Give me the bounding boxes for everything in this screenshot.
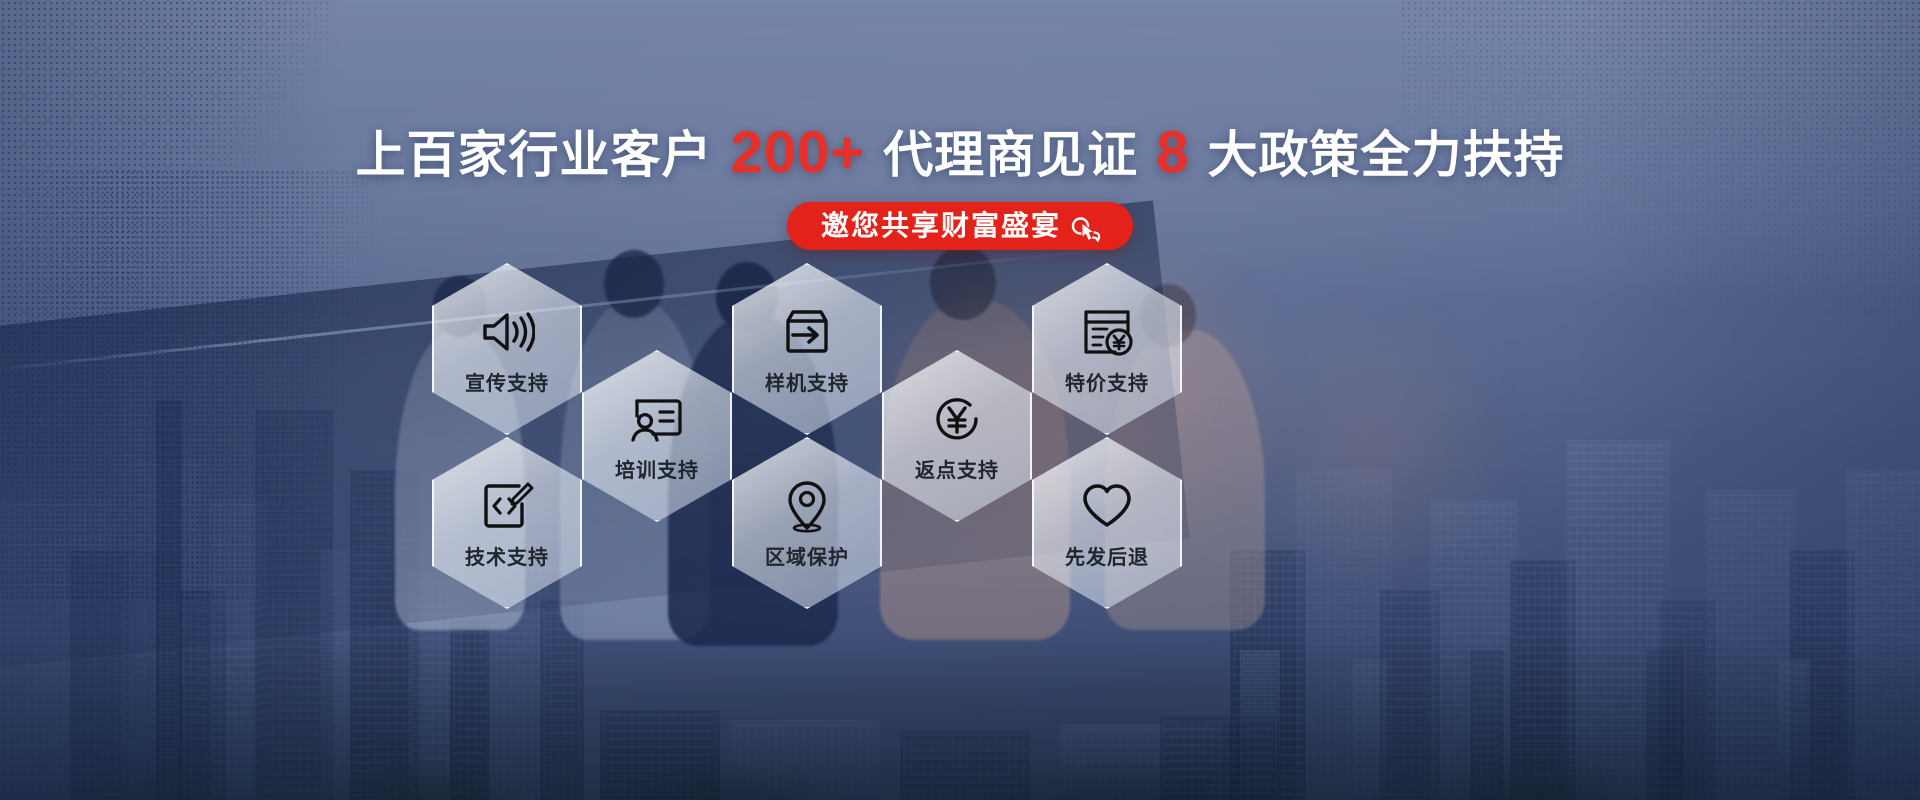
hex-label-special-price: 特价支持 <box>1065 374 1149 394</box>
box-arrow-in-icon <box>779 304 835 360</box>
yen-circle-icon <box>929 391 985 447</box>
hex-label-promo-support: 宣传支持 <box>465 374 549 394</box>
code-brackets-icon <box>479 478 535 534</box>
hex-cell-special-price[interactable]: 特价支持 <box>1032 263 1182 435</box>
heart-icon <box>1079 478 1135 534</box>
hex-label-training-support: 培训支持 <box>615 461 699 481</box>
price-document-yen-icon <box>1079 304 1135 360</box>
hex-cell-promo-support[interactable]: 宣传支持 <box>432 263 582 435</box>
hex-label-sample-support: 样机支持 <box>765 374 849 394</box>
megaphone-speaker-icon <box>479 304 535 360</box>
benefits-hexagon-grid: 宣传支持 技术支持 培训支持 样机支持 区域保护 返点支持 <box>0 0 1920 800</box>
hex-label-technical-support: 技术支持 <box>465 548 549 568</box>
location-pin-icon <box>779 478 835 534</box>
hex-cell-ship-first-refund[interactable]: 先发后退 <box>1032 437 1182 609</box>
hex-cell-region-protection[interactable]: 区域保护 <box>732 437 882 609</box>
hex-cell-technical-support[interactable]: 技术支持 <box>432 437 582 609</box>
hex-cell-rebate-support[interactable]: 返点支持 <box>882 350 1032 522</box>
person-id-card-icon <box>629 391 685 447</box>
hex-label-ship-first-refund: 先发后退 <box>1065 548 1149 568</box>
hex-cell-training-support[interactable]: 培训支持 <box>582 350 732 522</box>
banner-content: 上百家行业客户200+代理商见证8大政策全力扶持 邀您共享财富盛宴 宣传支持 技… <box>0 0 1920 800</box>
hex-cell-sample-support[interactable]: 样机支持 <box>732 263 882 435</box>
hex-label-rebate-support: 返点支持 <box>915 461 999 481</box>
hex-label-region-protection: 区域保护 <box>765 548 849 568</box>
